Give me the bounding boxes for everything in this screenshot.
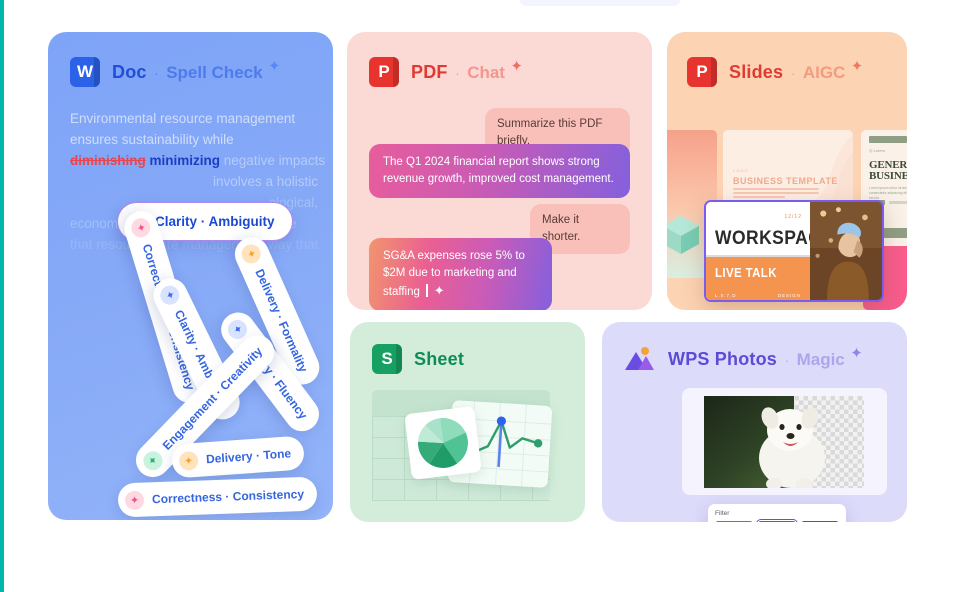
clarity-ambiguity-label: Clarity · Ambiguity	[155, 214, 275, 229]
thumb-line-shape	[889, 201, 907, 204]
thumb-title: BUSINESS TEMPLATE	[733, 176, 838, 186]
sheet-feature-card[interactable]: S Sheet	[350, 322, 585, 522]
misspelled-word: diminishing	[70, 153, 146, 168]
chat-streaming-text: SG&A expenses rose 5% to $2M due to mark…	[383, 250, 525, 298]
sparkle-icon: ✦	[239, 241, 264, 266]
filter-thumb-mono[interactable]	[801, 521, 839, 522]
slide-orange-band: LIVE TALK L.0.7.D DESIGN	[706, 257, 810, 302]
filter-thumb-original[interactable]	[715, 521, 753, 522]
page-title: WPS Photos	[668, 349, 777, 369]
suggestion-pill[interactable]: ✦ Correctness · Consistency	[117, 477, 317, 518]
chat-message-ai: The Q1 2024 financial report shows stron…	[369, 144, 630, 198]
pie-chart	[404, 406, 482, 480]
photos-feature-card[interactable]: WPS Photos · Magic ✦	[602, 322, 907, 522]
sparkle-icon: ✦	[434, 283, 445, 298]
suggested-word: minimizing	[150, 153, 221, 168]
filter-thumb-row	[715, 521, 839, 522]
person-photo-illustration	[810, 202, 882, 300]
photos-title-group: WPS Photos · Magic ✦	[668, 349, 863, 370]
title-separator: ·	[784, 352, 789, 368]
slides-subtitle: AIGC	[803, 63, 846, 82]
slide-footer-left: L.0.7.D	[715, 293, 737, 298]
sparkle-icon: ✦	[268, 58, 281, 75]
title-separator: ·	[791, 65, 796, 81]
sheet-illustration	[372, 390, 564, 502]
filter-popover[interactable]: Filter	[708, 504, 846, 522]
thumb-subtext: Lorem ipsum dolor sit amet consectetur a…	[869, 186, 907, 201]
suggestion-pill-label: Delivery · Tone	[206, 446, 292, 466]
sparkle-icon: ✦	[850, 345, 863, 362]
sparkle-icon: ✦	[158, 282, 183, 307]
slide-date: 12/12	[784, 214, 802, 220]
thumb-title: GENERAL BUSINESS	[869, 160, 907, 182]
doc-text-line: Environmental resource management	[70, 108, 318, 129]
doc-feature-card[interactable]: W Doc · Spell Check ✦ Environmental reso…	[48, 32, 333, 520]
wps-photos-icon	[622, 344, 656, 374]
doc-text-line: involves a holistic	[70, 171, 318, 192]
filter-thumb-vivid[interactable]	[758, 521, 796, 522]
filter-panel-label: Filter	[715, 510, 839, 517]
thumb-logo-label: ◎ Lorem	[869, 148, 885, 153]
pdf-feature-card[interactable]: P PDF · Chat ✦ Summarize this PDF briefl…	[347, 32, 652, 310]
slide-footer-right: DESIGN	[778, 293, 801, 298]
doc-subtitle: Spell Check	[166, 63, 262, 82]
photos-subtitle: Magic	[797, 350, 845, 369]
thumb-image-mono	[801, 521, 839, 522]
slide-photo	[810, 202, 882, 300]
sparkle-icon: ✦	[129, 216, 153, 240]
app-showcase-stage: W Doc · Spell Check ✦ Environmental reso…	[0, 0, 959, 592]
chat-message-ai-streaming: SG&A expenses rose 5% to $2M due to mark…	[369, 238, 552, 310]
sparkle-icon: ✦	[851, 58, 864, 75]
page-title: Sheet	[414, 349, 464, 370]
page-title: Slides	[729, 62, 783, 82]
page-title: Doc	[112, 62, 147, 82]
slides-feature-card[interactable]: P Slides · AIGC ✦ LOGO	[667, 32, 907, 310]
slide-thumbnail-strip: LOGO BUSINESS TEMPLATE ◎ Lorem GENERAL B…	[667, 128, 907, 310]
featured-slide[interactable]: 12/12 WORKSPACE LIVE TALK L.0.7.D DESIGN	[704, 200, 884, 302]
wps-writer-icon: W	[70, 57, 100, 87]
doc-text-correction-line: diminishing minimizing negative impacts	[70, 150, 318, 171]
photos-card-header: WPS Photos · Magic ✦	[622, 344, 907, 374]
sparkle-icon: ✦	[178, 450, 198, 470]
thumb-text-lines	[733, 188, 819, 200]
slides-title-group: Slides · AIGC ✦	[729, 62, 863, 83]
doc-card-header: W Doc · Spell Check ✦	[70, 57, 333, 87]
left-edge-accent	[0, 0, 4, 592]
title-separator: ·	[154, 65, 159, 81]
sparkle-icon: ✦	[125, 490, 145, 510]
suggestion-pill-label: Correctness · Consistency	[152, 487, 304, 506]
sparkle-icon: ✦	[139, 447, 166, 474]
photo-editor-panel[interactable]: Filter	[682, 388, 887, 495]
doc-text-line: ensures sustainability while	[70, 129, 318, 150]
cube-icon	[667, 212, 703, 256]
pdf-title-group: PDF · Chat ✦	[411, 62, 523, 83]
thumb-image-vivid	[758, 521, 796, 522]
pdf-subtitle: Chat	[467, 63, 505, 82]
thumb-logo-label: LOGO	[733, 168, 749, 173]
featured-slide-text-panel: 12/12 WORKSPACE LIVE TALK L.0.7.D DESIGN	[706, 202, 810, 300]
thumb-image-original	[715, 521, 753, 522]
photo-canvas	[704, 396, 864, 488]
doc-text-line: negative impacts	[224, 153, 325, 168]
page-title: PDF	[411, 62, 448, 82]
top-cut-off-element	[520, 0, 680, 6]
pie-chart-card[interactable]	[404, 406, 482, 480]
thumb-bar-shape	[869, 136, 907, 143]
sparkle-icon: ✦	[510, 58, 523, 75]
wps-presentation-icon: P	[687, 57, 717, 87]
slides-card-header: P Slides · AIGC ✦	[687, 57, 907, 87]
dog-photo-cutout	[704, 396, 864, 488]
sheet-card-header: S Sheet	[372, 344, 585, 374]
wps-pdf-icon: P	[369, 57, 399, 87]
doc-title-group: Doc · Spell Check ✦	[112, 62, 281, 83]
pdf-card-header: P PDF · Chat ✦	[369, 57, 652, 87]
slide-subhead: LIVE TALK	[715, 266, 777, 280]
text-cursor	[426, 284, 428, 297]
wps-spreadsheet-icon: S	[372, 344, 402, 374]
title-separator: ·	[455, 65, 460, 81]
